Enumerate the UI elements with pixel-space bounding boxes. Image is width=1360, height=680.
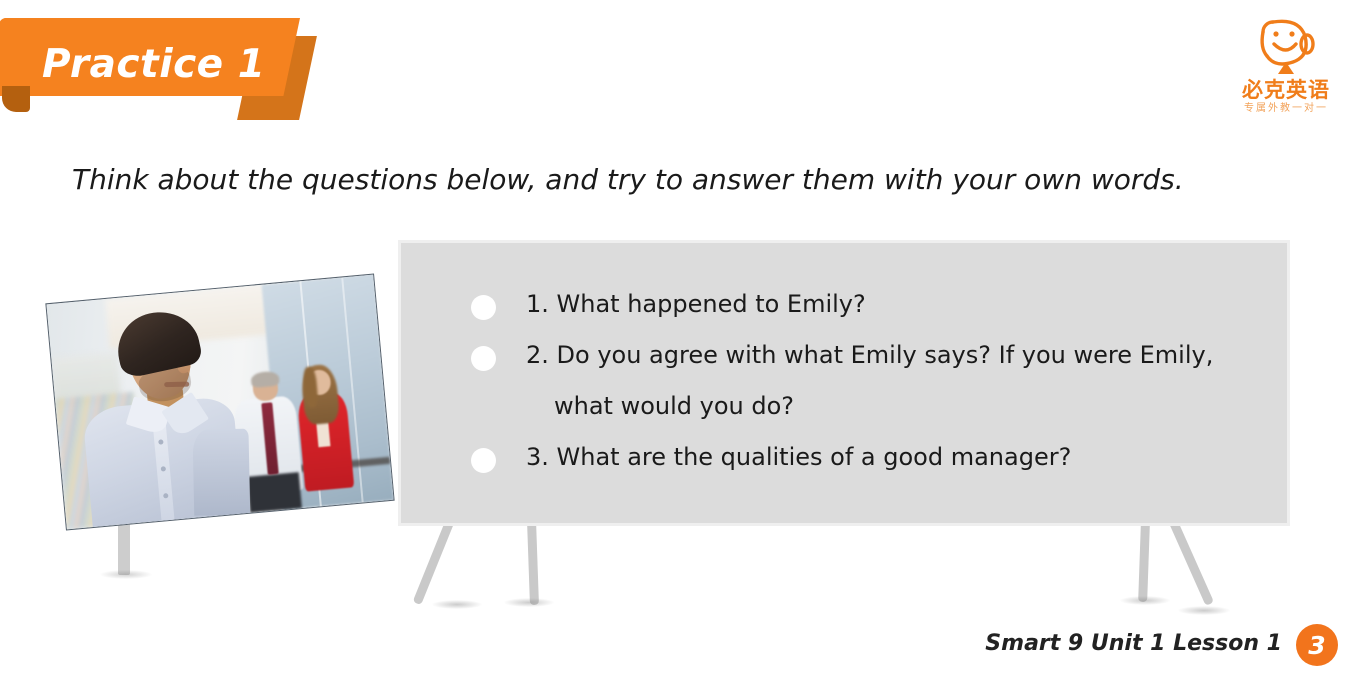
easel-leg-right-slanted-shadow xyxy=(1178,606,1230,615)
question-text: 3. What are the qualities of a good mana… xyxy=(526,444,1071,470)
easel-leg-right-vertical xyxy=(1138,520,1150,602)
page-number-badge: 3 xyxy=(1296,624,1338,666)
photo-stand-post xyxy=(118,520,130,575)
practice-banner: Practice 1 xyxy=(0,18,350,118)
easel-leg-left-vertical xyxy=(527,520,539,605)
photo-background-man-trousers xyxy=(247,472,303,513)
bullet-icon xyxy=(471,346,496,371)
instruction-text: Think about the questions below, and try… xyxy=(72,163,1184,196)
bullet-icon xyxy=(471,295,496,320)
easel-leg-right-slanted xyxy=(1168,518,1214,606)
photo-foreground-man-mouth xyxy=(164,382,189,387)
banner-title: Practice 1 xyxy=(42,42,265,87)
easel-leg-left-slanted-shadow xyxy=(432,600,482,609)
question-item-continuation: what would you do? xyxy=(471,393,794,422)
question-text: 2. Do you agree with what Emily says? If… xyxy=(526,342,1213,368)
question-item: 3. What are the qualities of a good mana… xyxy=(471,444,1071,473)
smiley-headset-face-icon xyxy=(1226,12,1346,78)
easel-leg-right-vertical-shadow xyxy=(1120,596,1170,605)
question-list: 1. What happened to Emily? 2. Do you agr… xyxy=(401,243,1287,523)
footer-lesson-label: Smart 9 Unit 1 Lesson 1 xyxy=(985,631,1282,656)
question-item: 1. What happened to Emily? xyxy=(471,291,866,320)
question-text: 1. What happened to Emily? xyxy=(526,291,866,317)
photo-foreground-man-arm xyxy=(193,429,251,516)
logo-name: 必克英语 xyxy=(1226,80,1346,101)
office-scene-photo xyxy=(45,274,394,531)
bullet-icon xyxy=(471,448,496,473)
question-text: what would you do? xyxy=(554,393,794,419)
logo-tagline: 专属外教一对一 xyxy=(1226,104,1346,114)
photo-stand-shadow xyxy=(100,570,152,579)
slide-canvas: Practice 1 必克英语 专属外教一对一 Think about the … xyxy=(0,0,1360,680)
brand-logo: 必克英语 专属外教一对一 xyxy=(1226,12,1346,130)
easel-leg-left-slanted xyxy=(413,518,455,605)
banner-fold-tab xyxy=(2,86,30,112)
question-item: 2. Do you agree with what Emily says? If… xyxy=(471,342,1213,371)
easel-leg-left-vertical-shadow xyxy=(504,598,554,607)
question-panel: 1. What happened to Emily? 2. Do you agr… xyxy=(398,240,1290,526)
